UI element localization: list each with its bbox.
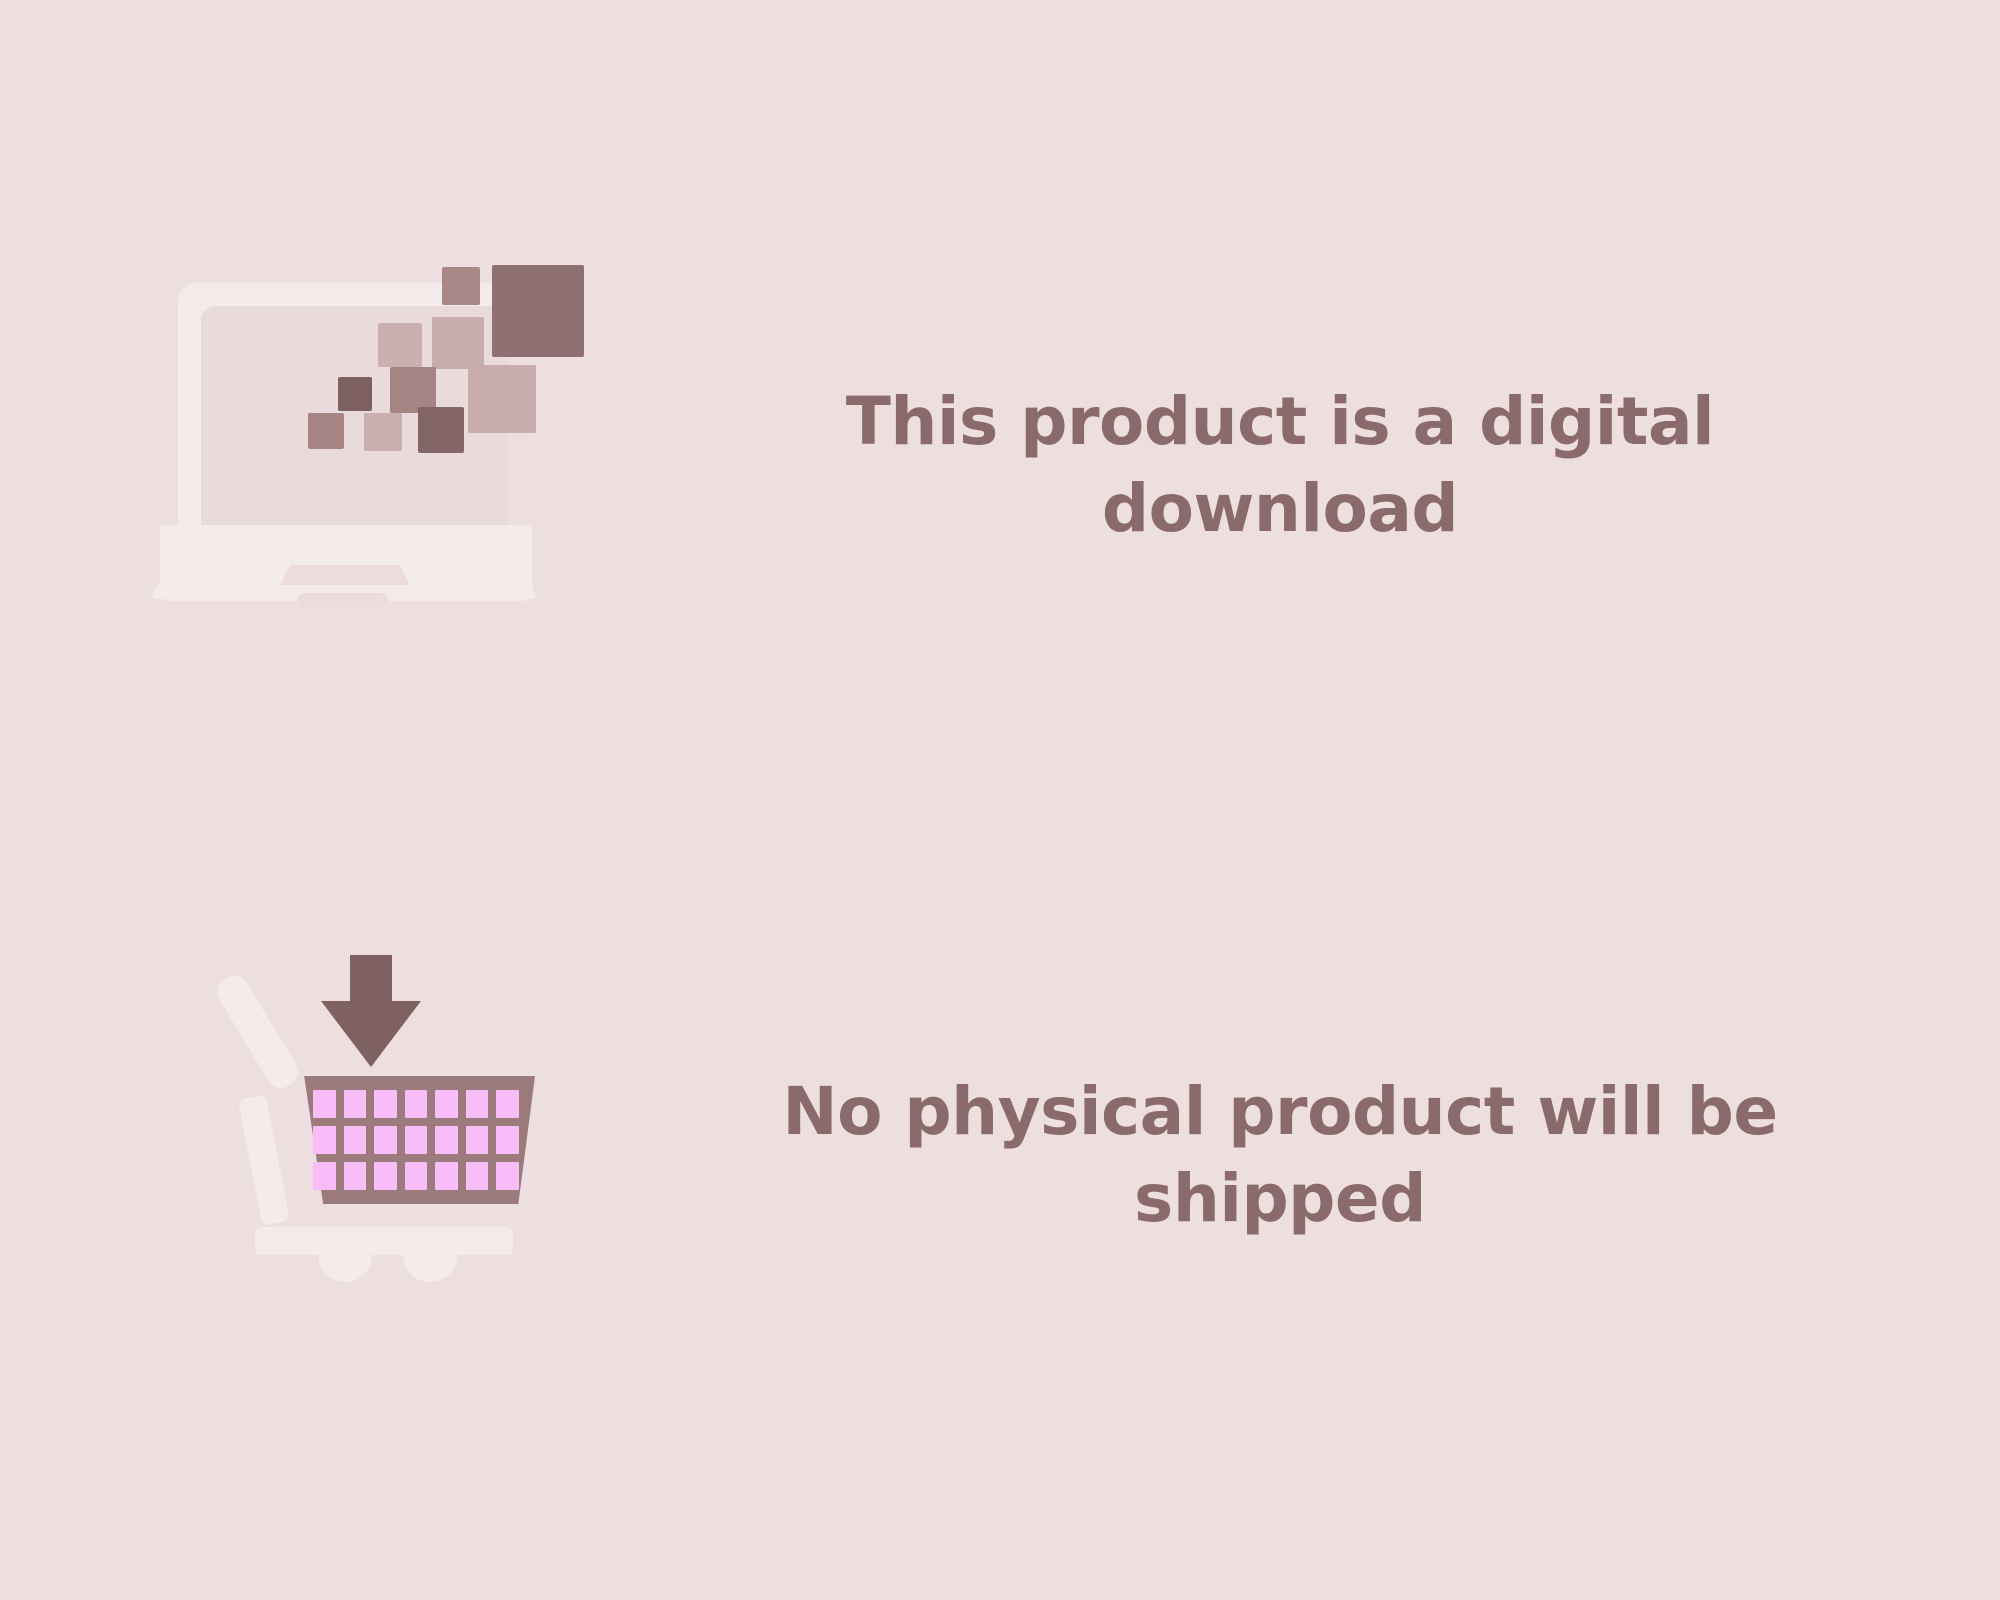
cart-basket-cell (466, 1090, 489, 1118)
feature-row-digital-download: This product is a digital download (0, 255, 2000, 675)
cart-icon-cell (200, 945, 600, 1365)
pixel-square (442, 267, 480, 305)
laptop-with-pixels-icon (150, 255, 710, 675)
pixel-square (492, 265, 584, 357)
cart-handle (212, 971, 303, 1094)
pixel-square (308, 413, 344, 449)
cart-basket-cell (435, 1090, 458, 1118)
cart-basket-cell (374, 1126, 397, 1154)
cart-basket-cell (466, 1126, 489, 1154)
cart-basket-cell (496, 1162, 519, 1190)
cart-basket-cell (313, 1162, 336, 1190)
laptop-front-bar (298, 593, 388, 606)
laptop-base-body (160, 525, 532, 601)
cart-basket-cell (313, 1126, 336, 1154)
promo-canvas: This product is a digital download No ph… (0, 0, 2000, 1600)
feature-text-digital-download: This product is a digital download (760, 378, 1800, 552)
cart-basket-cell (405, 1090, 428, 1118)
pixel-square (338, 377, 372, 411)
cart-basket-cell (405, 1126, 428, 1154)
down-arrow-head (321, 1001, 421, 1067)
feature-row-no-shipping: No physical product will be shipped (0, 945, 2000, 1365)
cart-wheel-right (403, 1248, 457, 1282)
cart-basket-cell (344, 1162, 367, 1190)
cart-basket-cell (344, 1090, 367, 1118)
cart-basket-cell (496, 1126, 519, 1154)
cart-basket-cell (374, 1090, 397, 1118)
cart-basket-cell (466, 1162, 489, 1190)
laptop-icon-cell (150, 255, 710, 675)
cart-basket-cell (344, 1126, 367, 1154)
cart-basket-cell (313, 1090, 336, 1118)
feature-text-no-shipping: No physical product will be shipped (760, 1068, 1800, 1242)
cart-basket-cell (374, 1162, 397, 1190)
cart-basket-cell (435, 1126, 458, 1154)
pixel-square (468, 365, 536, 433)
pixel-square (418, 407, 464, 453)
cart-basket-cell (496, 1090, 519, 1118)
cart-undercarriage (255, 1227, 513, 1255)
laptop-trackpad (280, 565, 410, 585)
cart-wheel-left (318, 1248, 372, 1282)
pixel-square (432, 317, 484, 369)
cart-basket-cell (435, 1162, 458, 1190)
cart-basket-cell (405, 1162, 428, 1190)
shopping-cart-with-down-arrow-icon (200, 945, 600, 1365)
cart-rail (238, 1095, 290, 1226)
cart-basket-grid (297, 1076, 535, 1204)
pixel-square (364, 413, 402, 451)
pixel-square (378, 323, 422, 367)
